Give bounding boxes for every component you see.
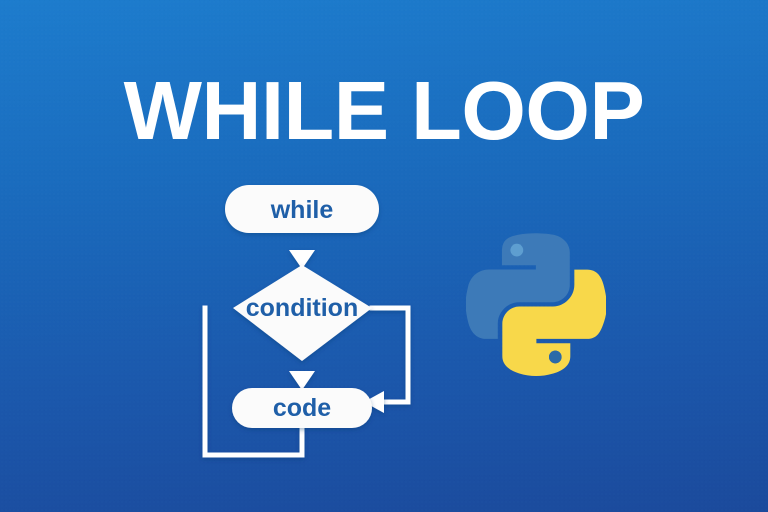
python-logo-blue-eye (510, 244, 523, 257)
node-condition-label: condition (246, 294, 358, 322)
while-loop-flowchart: condition while code (186, 175, 426, 470)
slide-canvas: WHILE LOOP condition while code (0, 0, 768, 512)
node-while-label: while (270, 196, 334, 224)
python-logo-yellow-eye (549, 351, 562, 364)
page-title: WHILE LOOP (0, 69, 768, 152)
node-code-label: code (273, 394, 331, 422)
arrowhead-condition-to-code (289, 371, 315, 390)
edge-condition-to-code-loop (372, 308, 408, 402)
python-logo-icon (466, 233, 606, 381)
